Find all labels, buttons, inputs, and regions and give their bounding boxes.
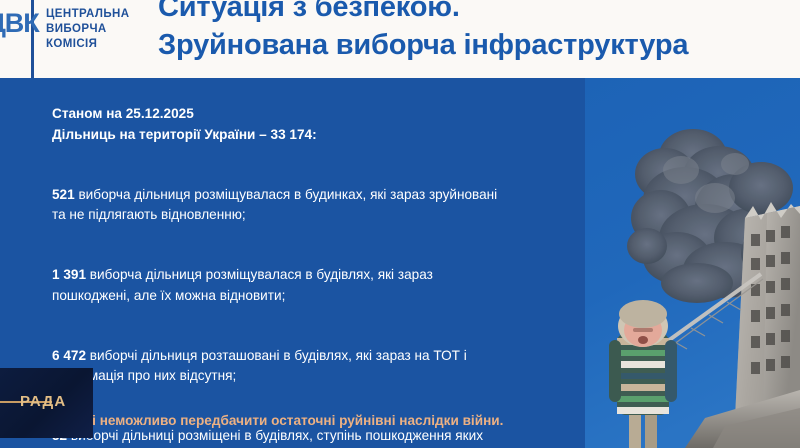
cvk-logo-mark: ЦВК (0, 8, 39, 39)
stat-paragraph-damaged: 1 391 виборча дільниця розміщувалася в б… (52, 245, 672, 307)
presentation-slide: ЦВК ЦЕНТРАЛЬНА ВИБОРЧА КОМІСІЯ Ситуація … (0, 0, 800, 448)
stat-number-1391: 1 391 (52, 267, 86, 282)
stat-text-1391: виборча дільниця розміщувалася в будівля… (52, 267, 433, 303)
stat-text-6472: виборчі дільниця розташовані в будівлях,… (52, 348, 467, 384)
rada-channel-badge: РАДА (0, 368, 93, 438)
closing-statement: Наразі неможливо передбачити остаточні р… (52, 411, 692, 431)
stat-text-521: виборча дільниця розміщувалася в будинка… (52, 187, 497, 223)
slide-header: ЦВК ЦЕНТРАЛЬНА ВИБОРЧА КОМІСІЯ Ситуація … (0, 0, 800, 78)
stat-text-52: виборчі дільниці розміщені в будівлях, с… (52, 428, 483, 448)
slide-body: Станом на 25.12.2025 Дільниць на територ… (52, 104, 672, 448)
stat-paragraph-destroyed: 521 виборча дільниця розміщувалася в буд… (52, 164, 672, 226)
stat-paragraph-occupied: 6 472 виборчі дільниця розташовані в буд… (52, 325, 672, 387)
page-title: Ситуація з безпекою. Зруйнована виборча … (158, 0, 800, 64)
stat-number-521: 521 (52, 187, 75, 202)
organization-name: ЦЕНТРАЛЬНА ВИБОРЧА КОМІСІЯ (46, 7, 129, 52)
statistics-lead: Станом на 25.12.2025 Дільниць на територ… (52, 104, 672, 145)
stat-number-6472: 6 472 (52, 348, 86, 363)
rada-label: РАДА (20, 393, 66, 410)
